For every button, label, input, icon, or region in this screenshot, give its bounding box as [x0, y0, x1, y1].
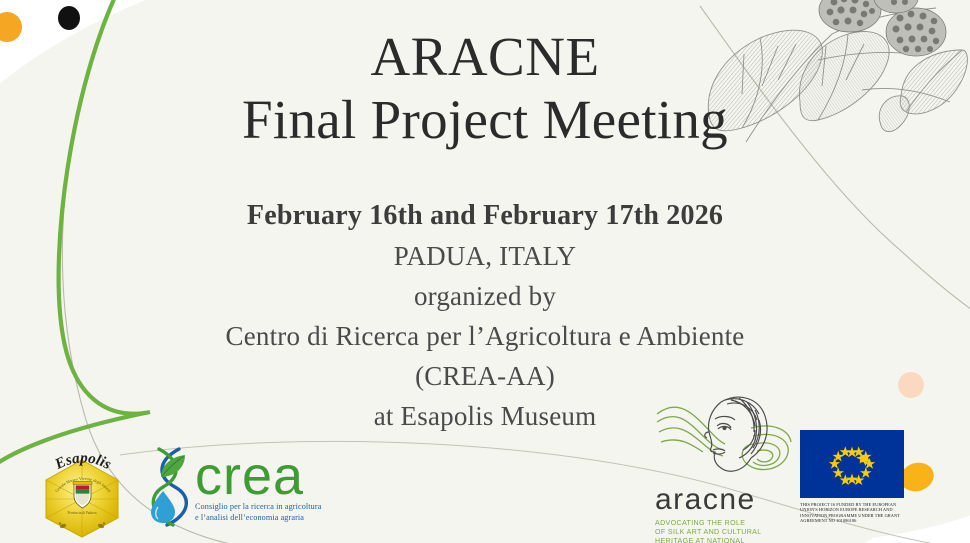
title-line-1: ARACNE	[0, 26, 970, 88]
aracne-tagline-line1: ADVOCATING THE ROLE	[655, 519, 795, 528]
aracne-woman-profile-icon	[655, 388, 795, 480]
aracne-logo: aracne ADVOCATING THE ROLE OF SILK ART A…	[655, 388, 795, 536]
organizer-name: Centro di Ricerca per l’Agricoltura e Am…	[0, 316, 970, 356]
eu-funding-text: THIS PROJECT IS FUNDED BY THE EUROPEAN U…	[800, 502, 908, 524]
aracne-tagline-line2: OF SILK ART AND CULTURAL	[655, 528, 795, 537]
poster-title: ARACNE Final Project Meeting	[0, 26, 970, 152]
eu-funding-block: THIS PROJECT IS FUNDED BY THE EUROPEAN U…	[800, 430, 910, 534]
poster-canvas: ARACNE Final Project Meeting February 16…	[0, 0, 970, 543]
esapolis-logo: Esapolis Grande Museo Vivente degli Inse…	[30, 438, 135, 538]
title-line-2: Final Project Meeting	[0, 88, 970, 152]
aracne-wordmark: aracne	[655, 485, 795, 515]
crea-logo: crea Consiglio per la ricerca in agricol…	[145, 445, 325, 527]
meeting-dates: February 16th and February 17th 2026	[0, 196, 970, 236]
esapolis-sub-text: Provincia di Padova	[68, 511, 97, 515]
crea-tagline-line1: Consiglio per la ricerca in agricoltura	[195, 501, 321, 512]
crea-tagline-line2: e l’analisi dell’economia agraria	[195, 512, 321, 523]
meeting-city: PADUA, ITALY	[0, 236, 970, 276]
poster-details: February 16th and February 17th 2026 PAD…	[0, 196, 970, 436]
crea-wordmark: crea	[195, 451, 321, 501]
eu-flag-icon	[800, 430, 904, 498]
crea-helix-icon	[145, 445, 193, 527]
organized-by-label: organized by	[0, 276, 970, 316]
aracne-tagline-line3: HERITAGE AT NATIONAL	[655, 537, 795, 543]
organizer-acronym: (CREA-AA)	[0, 356, 970, 396]
